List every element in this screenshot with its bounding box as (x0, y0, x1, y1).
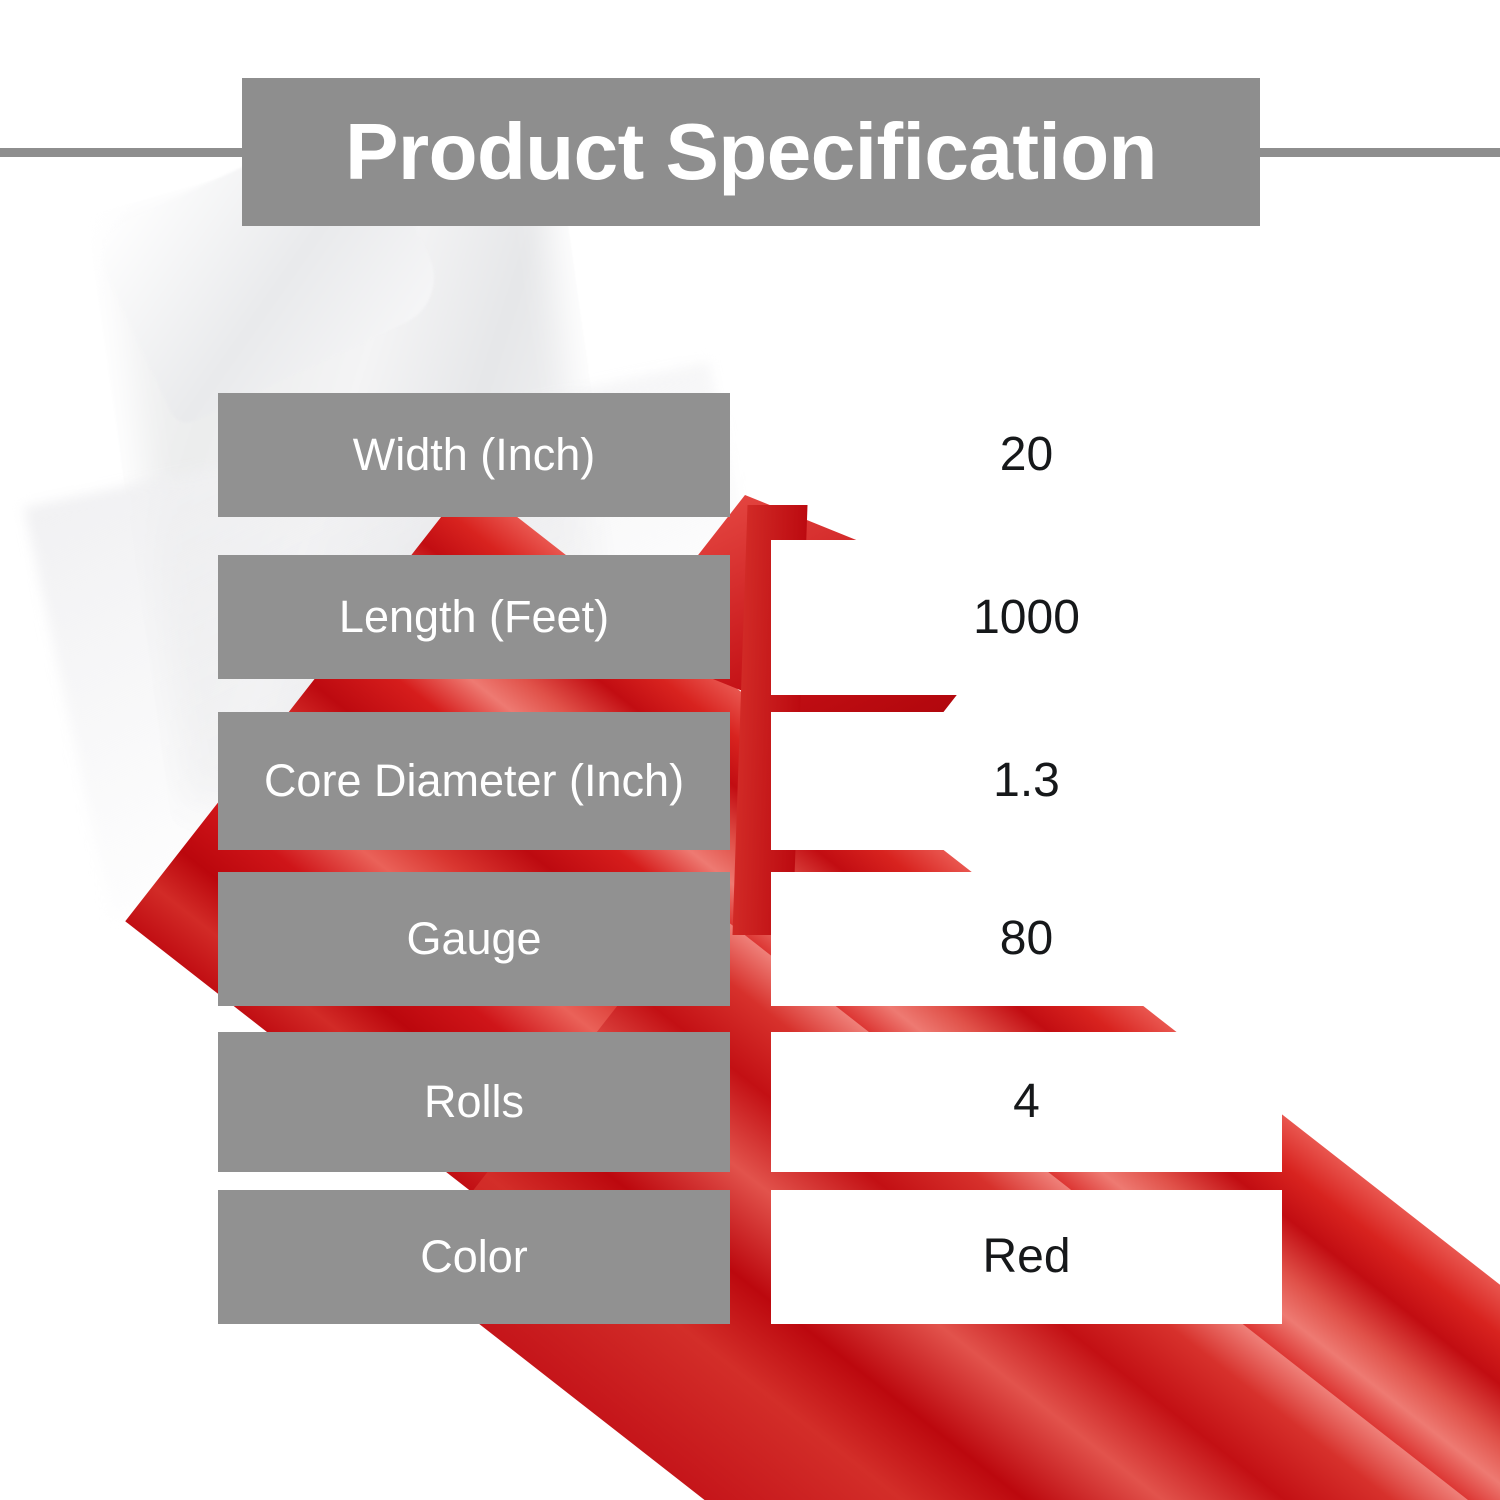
specification-table: Width (Inch) 20 Length (Feet) 1000 Core … (0, 0, 1500, 1500)
spec-value-length: 1000 (771, 540, 1282, 695)
spec-value-gauge: 80 (771, 872, 1282, 1006)
spec-value-color: Red (771, 1190, 1282, 1324)
product-specification-page: Product Specification Width (Inch) 20 Le… (0, 0, 1500, 1500)
spec-label-color: Color (218, 1190, 730, 1324)
spec-label-length: Length (Feet) (218, 555, 730, 679)
spec-value-rolls: 4 (771, 1032, 1282, 1172)
spec-value-width: 20 (771, 393, 1282, 517)
spec-value-core-diameter: 1.3 (771, 712, 1282, 850)
spec-label-rolls: Rolls (218, 1032, 730, 1172)
spec-label-core-diameter: Core Diameter (Inch) (218, 712, 730, 850)
spec-label-width: Width (Inch) (218, 393, 730, 517)
spec-label-gauge: Gauge (218, 872, 730, 1006)
